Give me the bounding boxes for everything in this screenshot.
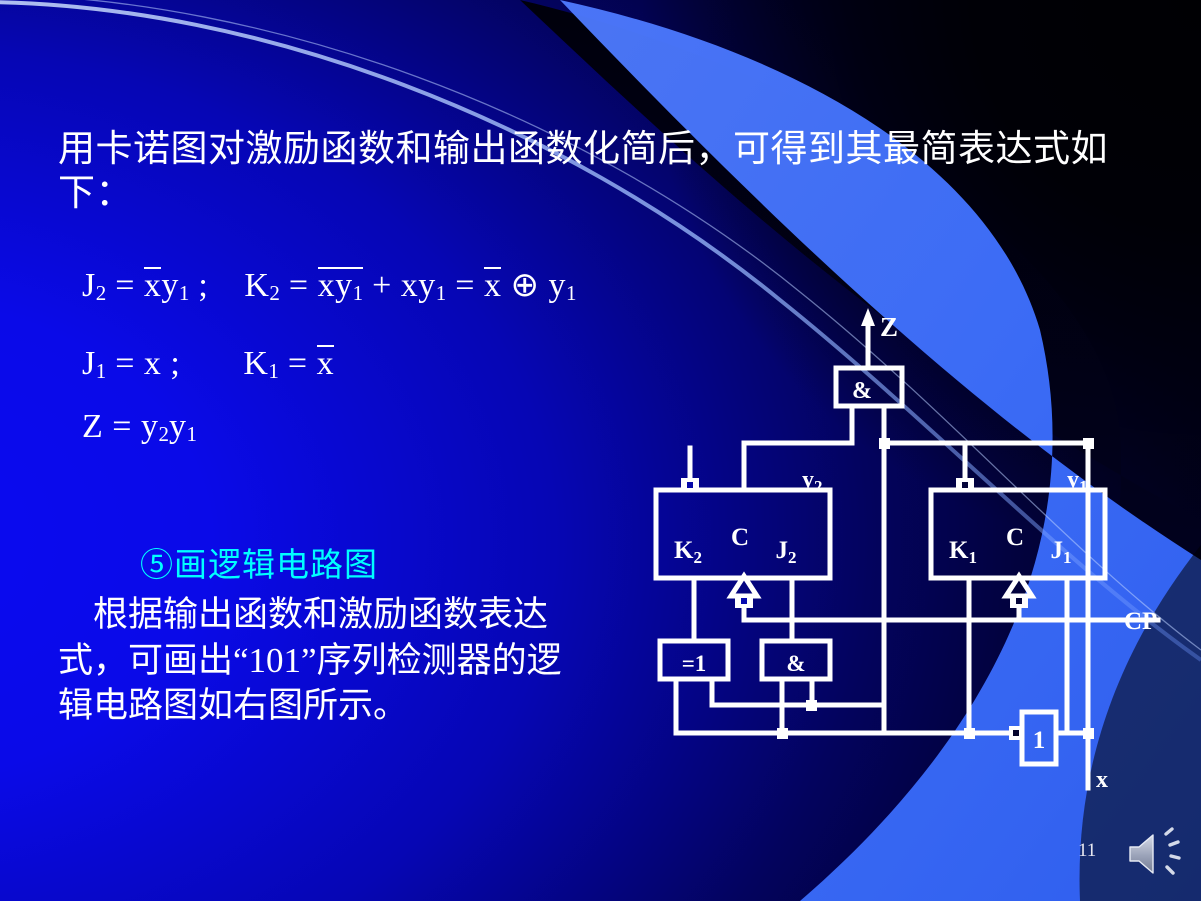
wire-junctions — [777, 438, 1094, 739]
label-state-y2: y2 — [802, 467, 823, 496]
label-ff2-j: J2 — [776, 537, 797, 567]
label-input-x: x — [1096, 767, 1108, 793]
z-output-arrowhead — [861, 308, 875, 326]
ff1-clock-edge-trigger — [1006, 576, 1032, 608]
label-clock-cp: CP — [1124, 608, 1157, 635]
label-and-top: & — [852, 378, 872, 404]
label-ff1-c: C — [1006, 524, 1024, 551]
ff2-clock-edge-trigger — [731, 576, 757, 608]
label-xor-gate: =1 — [682, 651, 707, 676]
label-state-y1: y1 — [1067, 467, 1088, 496]
logic-circuit-diagram: Z & y2 y1 K2 C J2 K1 C J1 =1 & 1 CP x — [0, 0, 1201, 901]
ff1-q-terminal — [956, 478, 974, 491]
slide-canvas: 用卡诺图对激励函数和输出函数化简后，可得到其最简表达式如下： J2 = xy1 … — [0, 0, 1201, 901]
label-ff2-c: C — [731, 524, 749, 551]
label-ff1-k: K1 — [949, 537, 977, 567]
label-ff2-k: K2 — [674, 537, 702, 567]
ff2-q-terminal — [681, 478, 699, 491]
label-and-gate: & — [786, 651, 805, 676]
label-ff1-j: J1 — [1051, 537, 1072, 567]
inverter-input-bubble — [1009, 726, 1024, 740]
label-inverter: 1 — [1033, 727, 1046, 754]
label-output-z: Z — [880, 312, 898, 342]
